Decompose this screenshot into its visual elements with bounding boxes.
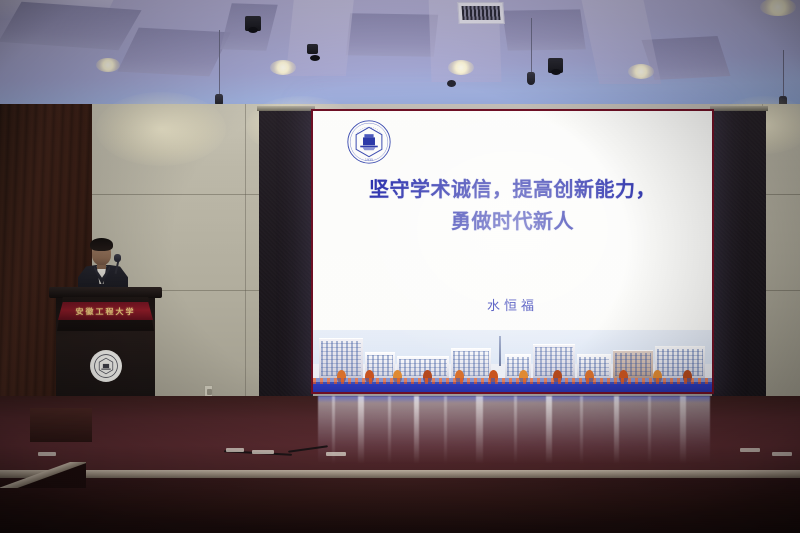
stage-step	[30, 408, 92, 442]
lecture-hall-photo: 1935 坚守学术诚信，提高创新能力， 勇做时代新人 水恒福 2022-11-0…	[0, 0, 800, 533]
university-crest-icon: 1935	[346, 119, 392, 165]
svg-text:1935: 1935	[365, 158, 373, 162]
slide-title-line-1: 坚守学术诚信，提高创新能力，	[329, 173, 696, 205]
acoustic-panel-left	[259, 110, 313, 402]
podium-nameplate: 安徽工程大学	[58, 302, 153, 320]
slide-title: 坚守学术诚信，提高创新能力， 勇做时代新人	[329, 173, 696, 238]
ceiling-recess	[346, 13, 438, 57]
campus-panorama-image	[313, 330, 712, 392]
floor-marker-tape	[326, 452, 346, 456]
floor-marker-tape	[38, 452, 56, 456]
downlight-icon	[448, 60, 474, 75]
ceiling-recess	[117, 28, 230, 77]
pendant-rod	[531, 18, 532, 74]
stage-corner	[0, 462, 86, 488]
projection-screen: 1935 坚守学术诚信，提高创新能力， 勇做时代新人 水恒福 2022-11-0…	[311, 109, 714, 394]
pendant-rod	[219, 30, 220, 96]
slide-speaker-name: 水恒福	[313, 295, 712, 314]
downlight-icon	[270, 60, 296, 75]
podium-nameplate-text: 安徽工程大学	[76, 306, 136, 316]
microphone-icon	[114, 254, 121, 262]
floor-marker-tape	[772, 452, 792, 456]
presentation-slide: 1935 坚守学术诚信，提高创新能力， 勇做时代新人 水恒福 2022-11-0…	[313, 111, 712, 392]
floor-marker-tape	[740, 448, 760, 452]
ceiling-recess	[0, 2, 142, 50]
downlight-icon	[628, 64, 654, 79]
ceiling-projector-icon	[245, 16, 261, 31]
panel-cap	[710, 106, 768, 111]
downlight-icon	[96, 58, 120, 72]
screen-reflection	[318, 396, 710, 464]
pendant-rod	[783, 50, 784, 98]
stage-front-face	[0, 478, 800, 533]
downlight-icon	[760, 0, 796, 16]
ceiling-recess	[502, 9, 586, 50]
acoustic-panel-right	[712, 110, 766, 402]
slide-title-line-2: 勇做时代新人	[329, 205, 696, 237]
ceiling-projector-icon	[548, 58, 563, 73]
floor-marker-tape	[226, 448, 244, 452]
ceiling-vent	[457, 2, 505, 24]
wall-seam	[245, 104, 246, 404]
floor-marker-tape	[252, 450, 274, 454]
pendant-speaker-icon	[527, 72, 535, 85]
podium-seal-icon	[90, 350, 122, 382]
ceiling	[0, 0, 800, 112]
ceiling-projector-icon	[307, 44, 318, 54]
panel-cap	[257, 106, 315, 111]
ceiling-beam	[286, 0, 354, 76]
ceiling-camera-icon	[447, 80, 456, 87]
